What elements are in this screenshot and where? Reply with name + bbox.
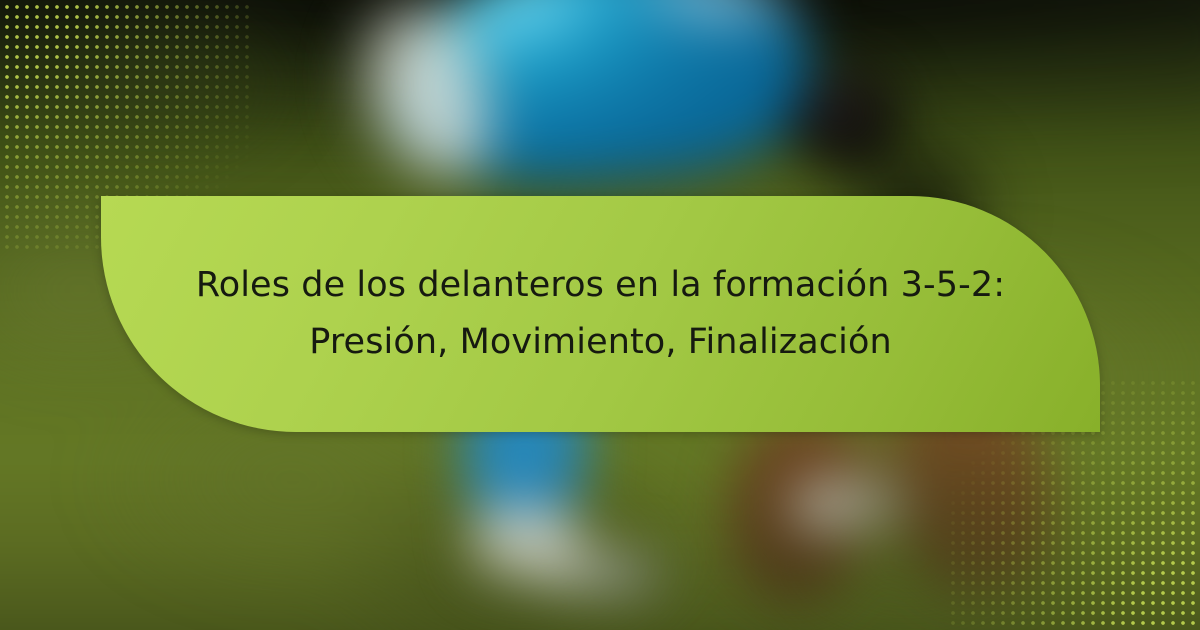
page-title: Roles de los delanteros en la formación … <box>181 257 1021 370</box>
player-boot <box>518 539 667 602</box>
title-banner-card: Roles de los delanteros en la formación … <box>0 0 1200 630</box>
headline-plaque: Roles de los delanteros en la formación … <box>101 196 1100 432</box>
